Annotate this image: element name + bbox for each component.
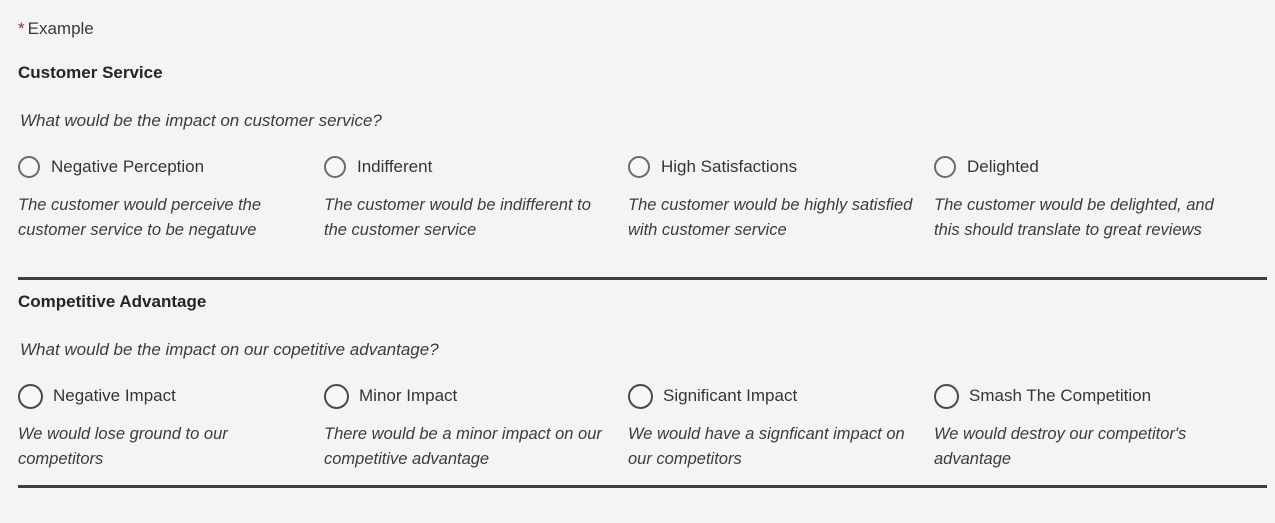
required-field-label: *Example (18, 18, 94, 40)
radio-option-header[interactable]: Minor Impact (324, 381, 624, 411)
radio-group-customer-service: Negative Perception The customer would p… (0, 152, 1275, 272)
section-title: Customer Service (18, 62, 163, 84)
radio-option-minor-impact[interactable]: Minor Impact There would be a minor impa… (324, 381, 624, 472)
radio-option-significant-impact[interactable]: Significant Impact We would have a signf… (628, 381, 928, 472)
radio-button-icon[interactable] (18, 384, 43, 409)
radio-button-icon[interactable] (324, 384, 349, 409)
radio-option-label: High Satisfactions (661, 156, 797, 178)
section-title: Competitive Advantage (18, 291, 206, 313)
section-divider (18, 485, 1267, 488)
radio-button-icon[interactable] (628, 156, 650, 178)
radio-option-label: Negative Perception (51, 156, 204, 178)
radio-group-competitive-advantage: Negative Impact We would lose ground to … (0, 381, 1275, 501)
radio-option-smash-the-competition[interactable]: Smash The Competition We would destroy o… (934, 381, 1264, 472)
radio-option-label: Smash The Competition (969, 385, 1151, 407)
radio-option-label: Delighted (967, 156, 1039, 178)
section-question: What would be the impact on customer ser… (20, 110, 382, 132)
radio-button-icon[interactable] (628, 384, 653, 409)
radio-option-header[interactable]: Negative Impact (18, 381, 318, 411)
radio-option-delighted[interactable]: Delighted The customer would be delighte… (934, 152, 1264, 243)
radio-option-label: Negative Impact (53, 385, 176, 407)
radio-option-header[interactable]: Smash The Competition (934, 381, 1264, 411)
radio-option-label: Indifferent (357, 156, 432, 178)
section-question: What would be the impact on our copetiti… (20, 339, 439, 361)
radio-option-description: The customer would perceive the customer… (18, 193, 306, 243)
radio-option-header[interactable]: Significant Impact (628, 381, 928, 411)
radio-option-negative-impact[interactable]: Negative Impact We would lose ground to … (18, 381, 318, 472)
required-label-text: Example (28, 19, 94, 38)
radio-option-description: There would be a minor impact on our com… (324, 422, 616, 472)
required-asterisk-icon: * (18, 19, 25, 38)
section-divider (18, 277, 1267, 280)
radio-option-header[interactable]: High Satisfactions (628, 152, 928, 182)
radio-option-header[interactable]: Indifferent (324, 152, 624, 182)
radio-option-description: The customer would be highly satisfied w… (628, 193, 921, 243)
radio-option-header[interactable]: Negative Perception (18, 152, 318, 182)
radio-option-label: Minor Impact (359, 385, 457, 407)
radio-option-description: We would have a signficant impact on our… (628, 422, 921, 472)
radio-option-description: The customer would be indifferent to the… (324, 193, 616, 243)
radio-button-icon[interactable] (934, 384, 959, 409)
radio-option-header[interactable]: Delighted (934, 152, 1264, 182)
radio-option-description: We would destroy our competitor's advant… (934, 422, 1234, 472)
radio-option-negative-perception[interactable]: Negative Perception The customer would p… (18, 152, 318, 243)
radio-option-label: Significant Impact (663, 385, 797, 407)
radio-option-indifferent[interactable]: Indifferent The customer would be indiff… (324, 152, 624, 243)
radio-button-icon[interactable] (934, 156, 956, 178)
radio-button-icon[interactable] (324, 156, 346, 178)
radio-option-high-satisfactions[interactable]: High Satisfactions The customer would be… (628, 152, 928, 243)
radio-button-icon[interactable] (18, 156, 40, 178)
survey-form: *Example Customer Service What would be … (0, 0, 1275, 523)
radio-option-description: The customer would be delighted, and thi… (934, 193, 1234, 243)
radio-option-description: We would lose ground to our competitors (18, 422, 306, 472)
